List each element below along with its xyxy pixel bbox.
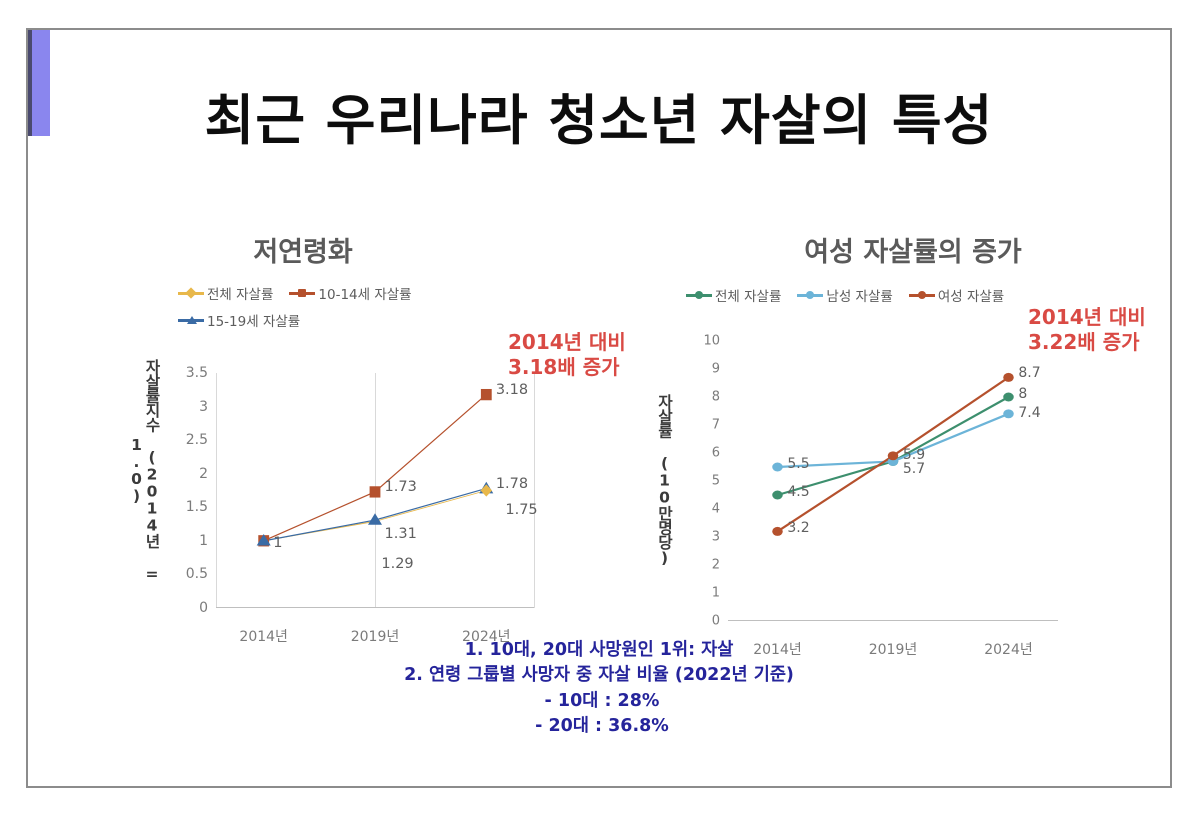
legend-item-male: 남성 자살률 (797, 285, 892, 305)
y-tick: 3 (199, 399, 208, 415)
y-tick: 0 (199, 600, 208, 616)
legend-item-female: 여성 자살률 (909, 285, 1004, 305)
legend-marker-dot-icon (686, 294, 712, 297)
y-tick: 10 (703, 334, 720, 349)
series-lines (728, 341, 1058, 621)
data-point-marker (481, 484, 492, 496)
legend-item-total: 전체 자살률 (178, 283, 273, 303)
y-tick: 2 (199, 466, 208, 482)
callout-annotation: 2014년 대비 3.22배 증가 (1028, 305, 1146, 355)
legend-marker-dot-icon (797, 294, 823, 297)
y-tick: 6 (712, 446, 720, 461)
data-label: 1.73 (385, 479, 417, 495)
y-tick: 5 (712, 474, 720, 489)
data-point-marker (370, 486, 381, 497)
data-point-marker (772, 491, 783, 500)
data-label: 1.29 (381, 556, 413, 572)
legend-item-10-14: 10-14세 자살률 (289, 283, 411, 303)
y-tick: 1.5 (186, 499, 208, 515)
series-lines (216, 373, 534, 608)
series-line-total (778, 397, 1009, 495)
legend-label: 여성 자살률 (938, 285, 1004, 305)
data-point-marker (1003, 373, 1014, 382)
data-point-marker (1003, 393, 1014, 402)
y-tick: 3 (712, 530, 720, 545)
data-label: 8.7 (1018, 365, 1040, 381)
chart-panel-female-rate: 여성 자살률의 증가 전체 자살률 남성 자살률 여성 자살률 자살률 (10만… (628, 205, 1158, 665)
data-label: 8 (1018, 386, 1027, 402)
legend-label: 전체 자살률 (715, 285, 781, 305)
legend-label: 10-14세 자살률 (318, 283, 411, 303)
plot-area: 0 1 2 3 4 5 6 7 8 9 10 (728, 341, 1058, 621)
data-label: 5.5 (787, 456, 809, 472)
y-tick: 2.5 (186, 432, 208, 448)
notes-block: 1. 10대, 20대 사망원인 1위: 자살 2. 연령 그룹별 사망자 중 … (28, 638, 1170, 740)
data-point-marker (888, 451, 899, 460)
data-label: 4.5 (787, 484, 809, 500)
plot-area: 0 0.5 1 1.5 2 2.5 3 3.5 (216, 373, 534, 608)
data-label: 5.7 (903, 461, 925, 477)
legend-marker-square-icon (289, 292, 315, 295)
y-axis-title: 자살률 (10만명당) (656, 355, 672, 605)
data-label: 7.4 (1018, 405, 1040, 421)
data-point-marker (772, 463, 783, 472)
y-axis-title: 자살률지수 (2014년 = 1.0) (128, 335, 159, 605)
y-tick: 1 (712, 586, 720, 601)
legend-item-15-19: 15-19세 자살률 (178, 310, 300, 330)
note-item: - 10대 : 28% (28, 689, 1170, 714)
data-label: 3.18 (496, 382, 528, 398)
page-title: 최근 우리나라 청소년 자살의 특성 (28, 76, 1170, 155)
note-item: - 20대 : 36.8% (28, 714, 1170, 739)
y-tick: 9 (712, 362, 720, 377)
data-label: 1.31 (385, 526, 417, 542)
chart-title: 여성 자살률의 증가 (648, 230, 1178, 269)
data-point-marker (772, 527, 783, 536)
note-item: 2. 연령 그룹별 사망자 중 자살 비율 (2022년 기준) (28, 663, 1170, 688)
data-point-marker (481, 389, 492, 400)
callout-line-2: 3.22배 증가 (1028, 330, 1146, 355)
y-tick: 0 (712, 614, 720, 629)
chart-title: 저연령화 (38, 230, 568, 269)
data-label: 3.2 (787, 520, 809, 536)
legend-marker-diamond-icon (178, 292, 204, 295)
y-tick: 4 (712, 502, 720, 517)
y-tick: 8 (712, 390, 720, 405)
y-tick: 7 (712, 418, 720, 433)
grid-line (534, 373, 535, 608)
y-tick: 3.5 (186, 365, 208, 381)
note-item: 1. 10대, 20대 사망원인 1위: 자살 (28, 638, 1170, 663)
callout-line-1: 2014년 대비 (508, 330, 626, 355)
data-point-marker (1003, 409, 1014, 418)
slide: 최근 우리나라 청소년 자살의 특성 저연령화 전체 자살률 10-14세 자살… (26, 28, 1172, 788)
callout-line-2: 3.18배 증가 (508, 355, 626, 380)
legend-marker-dot-icon (909, 294, 935, 297)
legend-marker-triangle-icon (178, 319, 204, 322)
callout-line-1: 2014년 대비 (1028, 305, 1146, 330)
chart-legend: 전체 자살률 남성 자살률 여성 자살률 (686, 285, 1004, 312)
y-tick: 2 (712, 558, 720, 573)
chart-panel-low-age: 저연령화 전체 자살률 10-14세 자살률 15-19세 자살률 자살률지수 (88, 205, 618, 665)
y-tick: 0.5 (186, 566, 208, 582)
data-label: 1.75 (505, 502, 537, 518)
legend-label: 전체 자살률 (207, 283, 273, 303)
legend-item-total: 전체 자살률 (686, 285, 781, 305)
data-label: 1 (273, 535, 282, 551)
legend-label: 남성 자살률 (826, 285, 892, 305)
data-label: 1.78 (496, 476, 528, 492)
legend-label: 15-19세 자살률 (207, 310, 300, 330)
y-tick: 1 (199, 533, 208, 549)
chart-legend: 전체 자살률 10-14세 자살률 15-19세 자살률 (178, 283, 412, 337)
callout-annotation: 2014년 대비 3.18배 증가 (508, 330, 626, 380)
